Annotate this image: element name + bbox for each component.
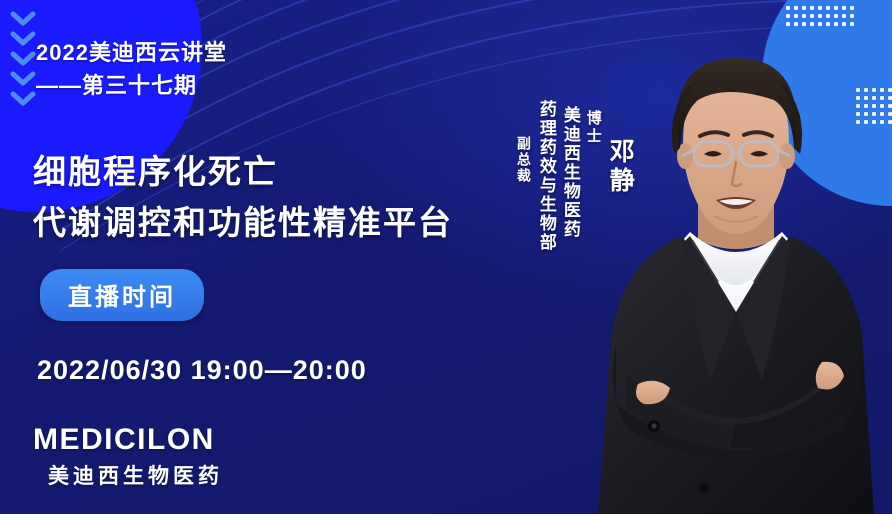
brand-logo: MEDICILON 美迪西生物医药 <box>33 424 223 490</box>
speaker-degree: 博士 <box>585 100 601 146</box>
speaker-name: 邓静 <box>607 100 634 196</box>
series-eyebrow: 2022美迪西云讲堂 ——第三十七期 <box>36 36 227 102</box>
speaker-company: 美迪西生物医药 <box>561 100 579 239</box>
headline-line-1: 细胞程序化死亡 <box>33 153 278 190</box>
broadcast-datetime: 2022/06/30 19:00—20:00 <box>37 355 367 386</box>
headline-line-2: 代谢调控和功能性精准平台 <box>33 197 453 248</box>
eyebrow-line-1: 2022美迪西云讲堂 <box>36 40 227 65</box>
page-title: 细胞程序化死亡 代谢调控和功能性精准平台 <box>33 146 453 248</box>
poster-content: 2022美迪西云讲堂 ——第三十七期 细胞程序化死亡 代谢调控和功能性精准平台 … <box>0 0 560 514</box>
eyebrow-line-2: ——第三十七期 <box>36 69 227 102</box>
logo-wordmark: MEDICILON <box>33 424 223 456</box>
live-time-badge: 直播时间 <box>40 269 204 321</box>
logo-subtitle: 美迪西生物医药 <box>33 460 223 490</box>
webinar-poster: 副总裁 药理药效与生物部 美迪西生物医药 博士 邓静 2022美迪西云讲堂 ——… <box>0 0 892 514</box>
